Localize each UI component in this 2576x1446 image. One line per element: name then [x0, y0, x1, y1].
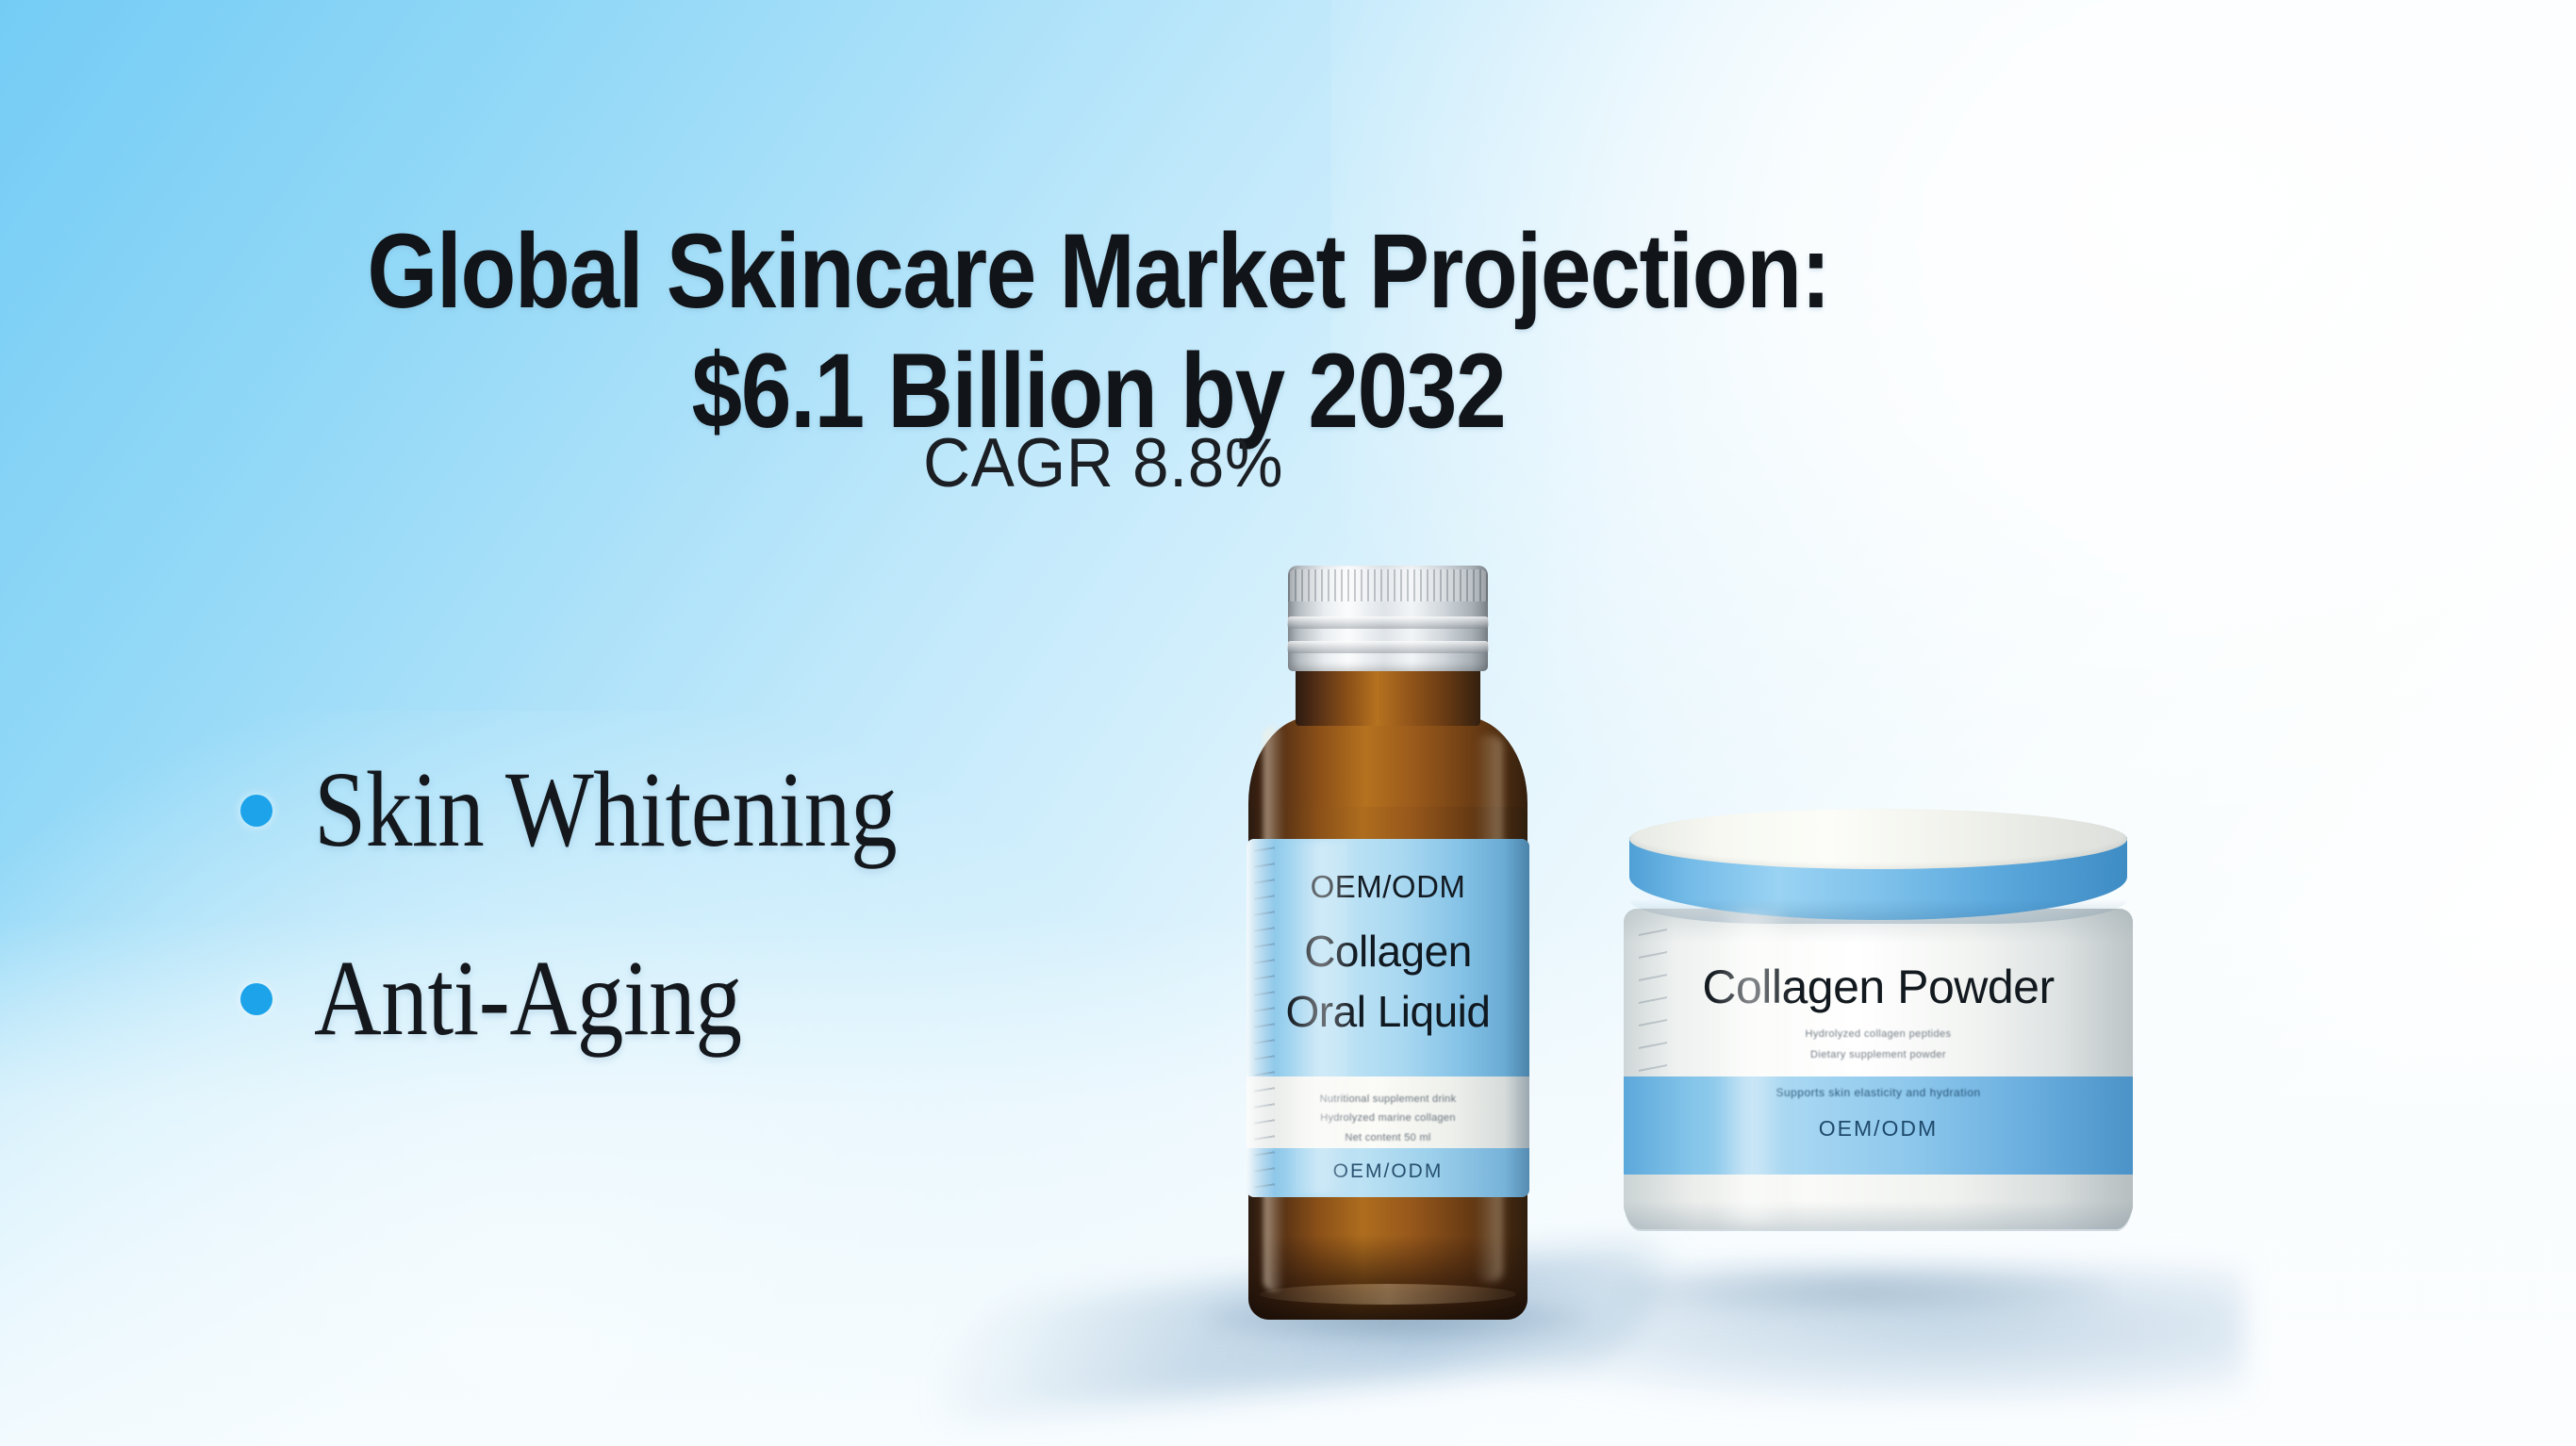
bottle-label-edge-shade [1505, 839, 1529, 1197]
promotional-banner: Global Skincare Market Projection: $6.1 … [0, 0, 2576, 1446]
collagen-powder-jar: Collagen Powder Hydrolyzed collagen pept… [1624, 809, 2133, 1299]
bullet-dot-icon [240, 795, 272, 827]
bottle-cap-ring-lower [1287, 641, 1489, 653]
bottle-label-gloss [1288, 839, 1354, 1197]
bottle-base-rim [1260, 1284, 1516, 1305]
bottle-label-edge-highlight [1247, 839, 1275, 1197]
jar-band-oemodm: OEM/ODM [1624, 1116, 2133, 1142]
bullet-label: Skin Whitening [314, 748, 897, 872]
jar-lid-top [1629, 809, 2127, 869]
bottle-neck [1296, 667, 1480, 726]
subtitle-cagr: CAGR 8.8% [56, 424, 2152, 502]
bottle-label: OEM/ODM Collagen Oral Liquid Nutritional… [1247, 839, 1529, 1197]
bullet-dot-icon [240, 983, 272, 1015]
list-item: Anti-Aging [240, 905, 1230, 1093]
page-title: Global Skincare Market Projection: $6.1 … [154, 212, 2043, 451]
bullet-label: Anti-Aging [314, 937, 742, 1060]
benefit-list: Skin Whitening Anti-Aging [240, 716, 1230, 1093]
bottle-cap-ribs [1288, 569, 1488, 601]
headline-line-1: Global Skincare Market Projection: [367, 212, 1829, 330]
jar-lid-band-shading [1629, 899, 2127, 924]
bottle-cap-ring-upper [1287, 616, 1489, 629]
jar-label-title: Collagen Powder [1624, 960, 2133, 1014]
jar-gloss-highlight [1714, 912, 1790, 1224]
jar-foot-shading [1624, 1201, 2133, 1231]
collagen-oral-liquid-bottle: OEM/ODM Collagen Oral Liquid Nutritional… [1241, 566, 1535, 1320]
list-item: Skin Whitening [240, 716, 1230, 905]
